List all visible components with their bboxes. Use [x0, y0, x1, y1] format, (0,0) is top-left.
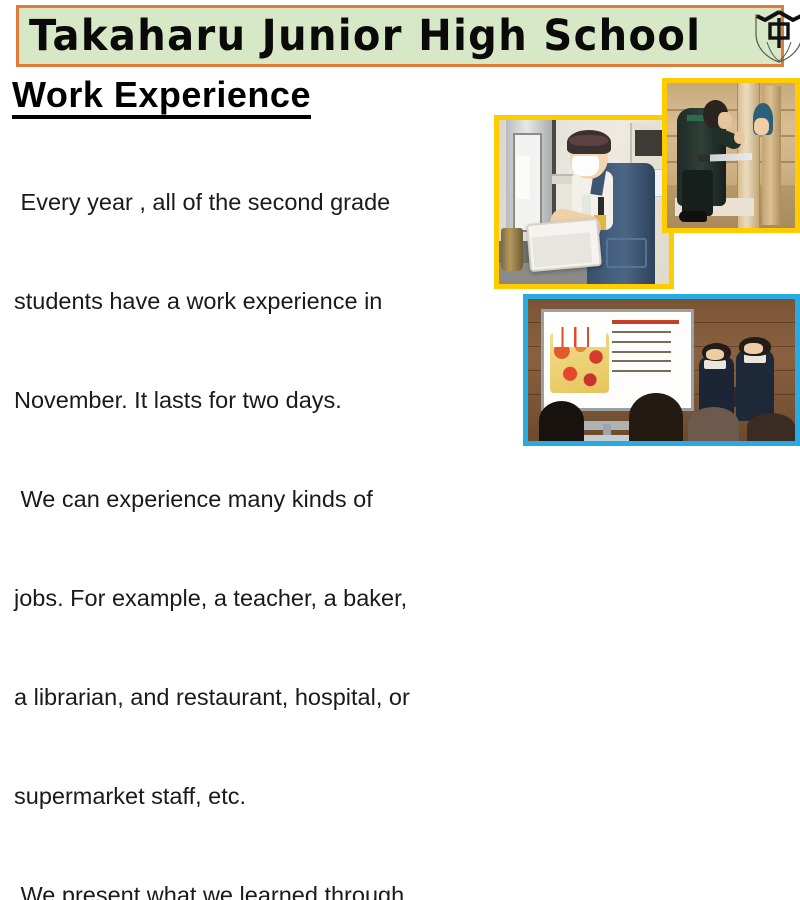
- school-shield-emblem: [752, 8, 800, 64]
- body-text: Every year , all of the second grade stu…: [14, 120, 574, 900]
- body-line: We present what we learned through: [14, 879, 574, 900]
- body-line: jobs. For example, a teacher, a baker,: [14, 582, 574, 615]
- title-banner: Takaharu Junior High School: [16, 5, 784, 67]
- photo-content: [667, 83, 795, 228]
- body-line: supermarket staff, etc.: [14, 780, 574, 813]
- body-line: a librarian, and restaurant, hospital, o…: [14, 681, 574, 714]
- section-heading: Work Experience: [12, 76, 311, 119]
- photo-content: [499, 120, 669, 284]
- photo-student-carpentry-work: [662, 78, 800, 233]
- body-line: Every year , all of the second grade: [14, 186, 574, 219]
- body-line: We can experience many kinds of: [14, 483, 574, 516]
- photo-content: [528, 299, 795, 441]
- photo-students-presentation: [523, 294, 800, 446]
- body-line: students have a work experience in: [14, 285, 574, 318]
- page-title: Takaharu Junior High School: [29, 15, 701, 58]
- slide-canvas: Takaharu Junior High School Work Experie…: [0, 0, 800, 450]
- body-line: November. It lasts for two days.: [14, 384, 574, 417]
- kanji-naka-glyph: [770, 18, 788, 48]
- photo-student-kitchen-work: [494, 115, 674, 289]
